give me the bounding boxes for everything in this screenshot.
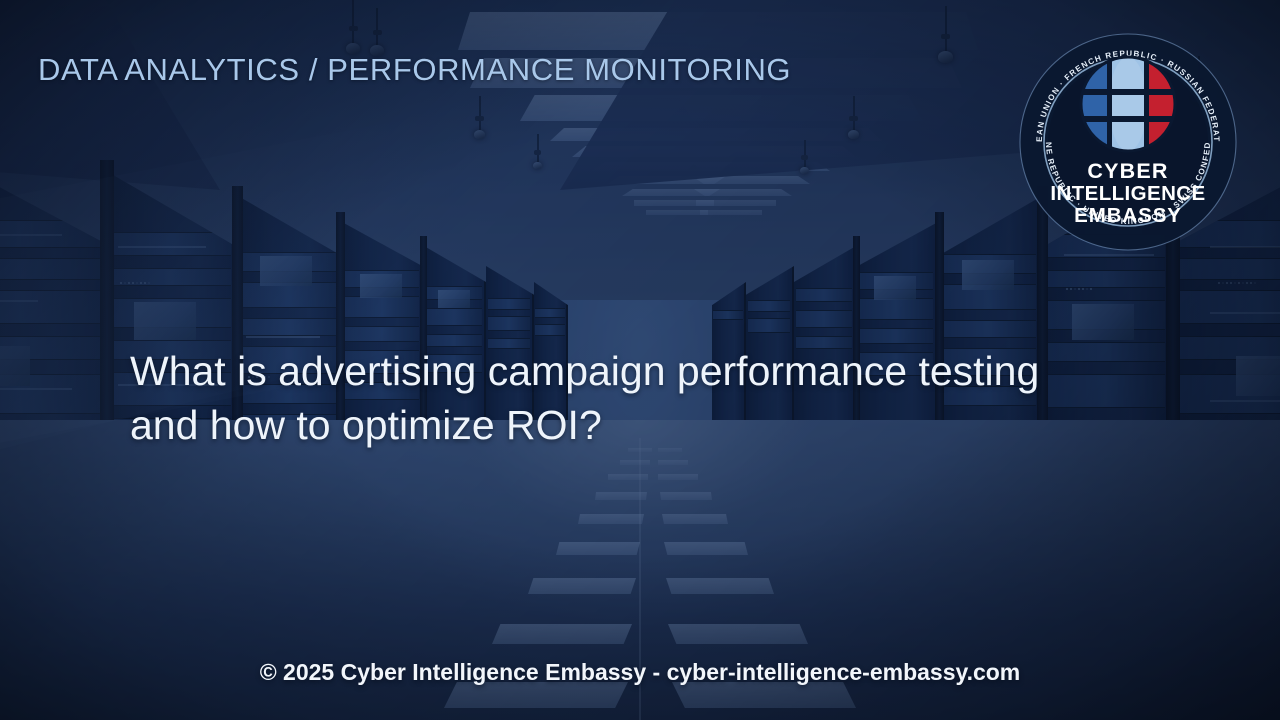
headline-line-2: and how to optimize ROI?	[130, 398, 1110, 452]
footer-copyright: © 2025 Cyber Intelligence Embassy	[260, 659, 646, 685]
seal-title-line-2: INTELLIGENCE	[1050, 182, 1205, 205]
headline-line-1: What is advertising campaign performance…	[130, 344, 1110, 398]
footer-domain: cyber-intelligence-embassy.com	[667, 659, 1021, 685]
footer-separator: -	[646, 659, 666, 685]
cyber-intelligence-embassy-seal: UNITED STATES OF AMERICA · EUROPEAN UNIO…	[1018, 32, 1238, 252]
seal-title-line-1: CYBER	[1087, 159, 1168, 183]
footer-credit: © 2025 Cyber Intelligence Embassy - cybe…	[0, 659, 1280, 686]
globe-icon	[1078, 57, 1178, 151]
hero-canvas: DATA ANALYTICS / PERFORMANCE MONITORING …	[0, 0, 1280, 720]
page-title: What is advertising campaign performance…	[130, 344, 1110, 452]
category-kicker: DATA ANALYTICS / PERFORMANCE MONITORING	[38, 52, 791, 88]
seal-title-line-3: EMBASSY	[1074, 204, 1182, 227]
